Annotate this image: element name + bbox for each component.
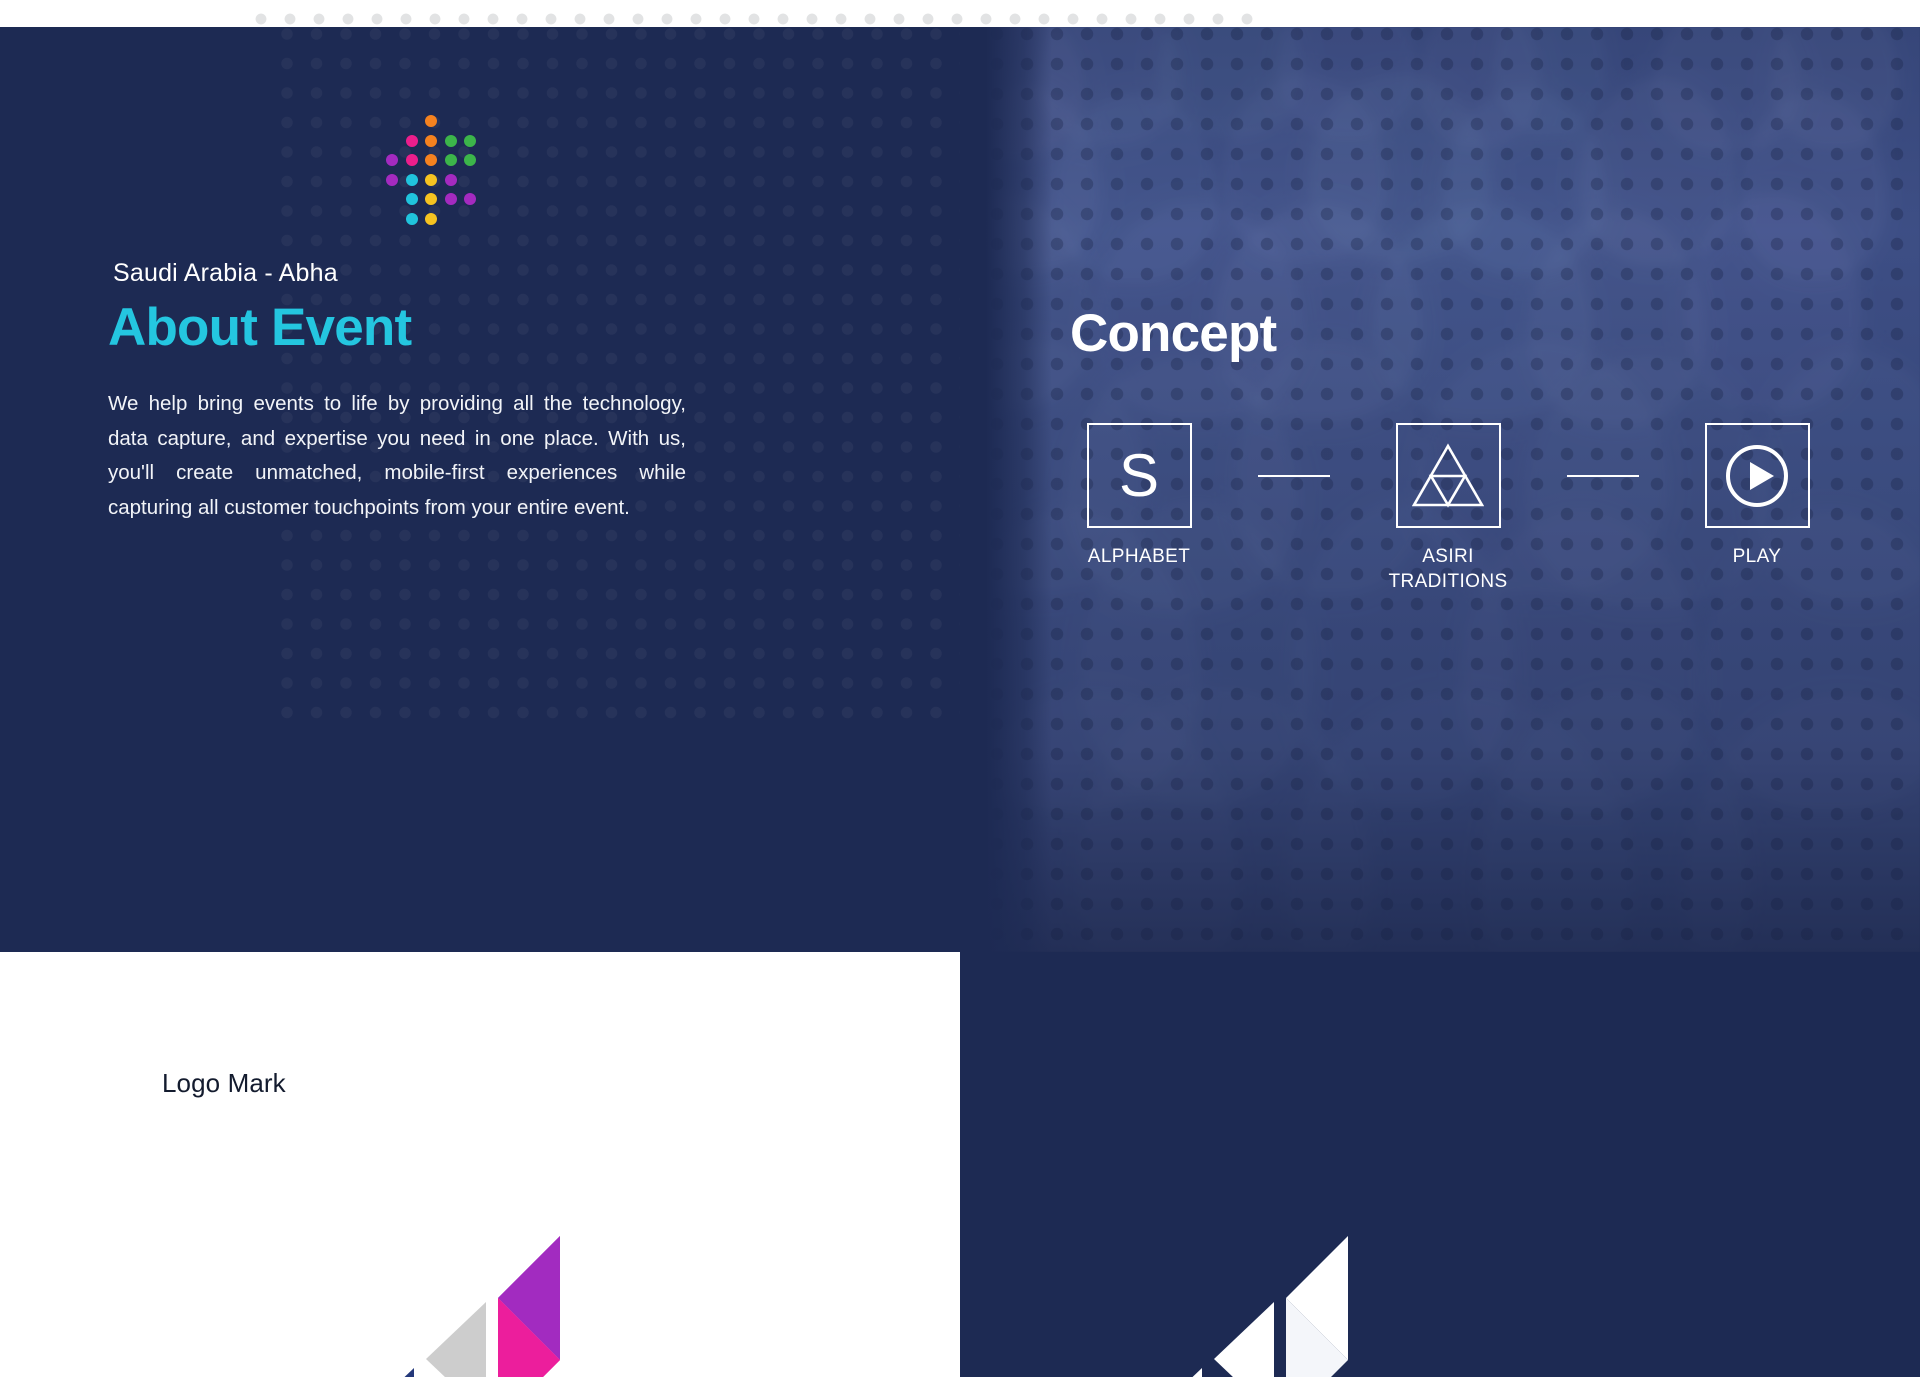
about-event-panel: Saudi Arabia - Abha About Event We help … xyxy=(0,27,960,952)
alphabet-icon-box: S xyxy=(1087,423,1192,528)
connector-line-1 xyxy=(1210,423,1377,528)
concept-panel: Concept S ALPHABET ASIRI TRADITIONS xyxy=(960,27,1920,952)
photo-left-edge-fade xyxy=(960,27,1052,952)
logo-mark-white xyxy=(1118,1236,1378,1377)
logo-dot xyxy=(406,193,418,205)
logo-dot xyxy=(445,174,457,186)
concept-caption-alphabet: ALPHABET xyxy=(1088,544,1190,569)
logo-dot xyxy=(425,115,437,127)
logo-dot xyxy=(464,154,476,166)
concept-caption-asiri: ASIRI TRADITIONS xyxy=(1388,544,1507,594)
asiri-icon-box xyxy=(1396,423,1501,528)
logo-dot xyxy=(386,174,398,186)
logo-dot xyxy=(406,154,418,166)
logo-dot xyxy=(445,135,457,147)
play-icon-box xyxy=(1705,423,1810,528)
concept-heading: Concept xyxy=(1070,303,1276,364)
logo-dot xyxy=(386,154,398,166)
concept-item-play[interactable]: PLAY xyxy=(1686,423,1828,569)
logo-dot xyxy=(464,135,476,147)
logo-dot xyxy=(425,154,437,166)
logo-dot xyxy=(406,174,418,186)
about-event-heading: About Event xyxy=(108,299,708,356)
logo-dot xyxy=(425,213,437,225)
top-strip-dot-pattern xyxy=(255,0,1255,27)
concept-items-row: S ALPHABET ASIRI TRADITIONS xyxy=(1068,423,1828,594)
concept-caption-play: PLAY xyxy=(1733,544,1782,569)
top-dotted-strip xyxy=(0,0,1920,27)
logo-dot xyxy=(425,174,437,186)
logo-mark-label: Logo Mark xyxy=(162,1068,286,1099)
logo-dot xyxy=(464,193,476,205)
about-event-content: Saudi Arabia - Abha About Event We help … xyxy=(108,259,708,525)
logo-dot xyxy=(406,213,418,225)
dot-matrix-logo xyxy=(386,115,476,235)
logo-mark-reverse-panel xyxy=(960,952,1920,1377)
concept-item-alphabet[interactable]: S ALPHABET xyxy=(1068,423,1210,569)
logo-dot xyxy=(445,154,457,166)
logo-dot xyxy=(425,135,437,147)
play-circle-icon xyxy=(1723,442,1791,510)
connector-line-2 xyxy=(1519,423,1686,528)
about-event-body-text: We help bring events to life by providin… xyxy=(108,387,686,525)
logo-dot xyxy=(406,135,418,147)
triangle-motif-icon xyxy=(1412,443,1484,509)
logo-dot xyxy=(445,193,457,205)
logo-mark-color xyxy=(330,1236,590,1377)
letter-s-icon: S xyxy=(1119,446,1159,506)
concept-item-asiri-traditions[interactable]: ASIRI TRADITIONS xyxy=(1377,423,1519,594)
location-eyebrow: Saudi Arabia - Abha xyxy=(108,259,708,288)
brochure-page: Saudi Arabia - Abha About Event We help … xyxy=(0,0,1920,1377)
logo-dot xyxy=(425,193,437,205)
